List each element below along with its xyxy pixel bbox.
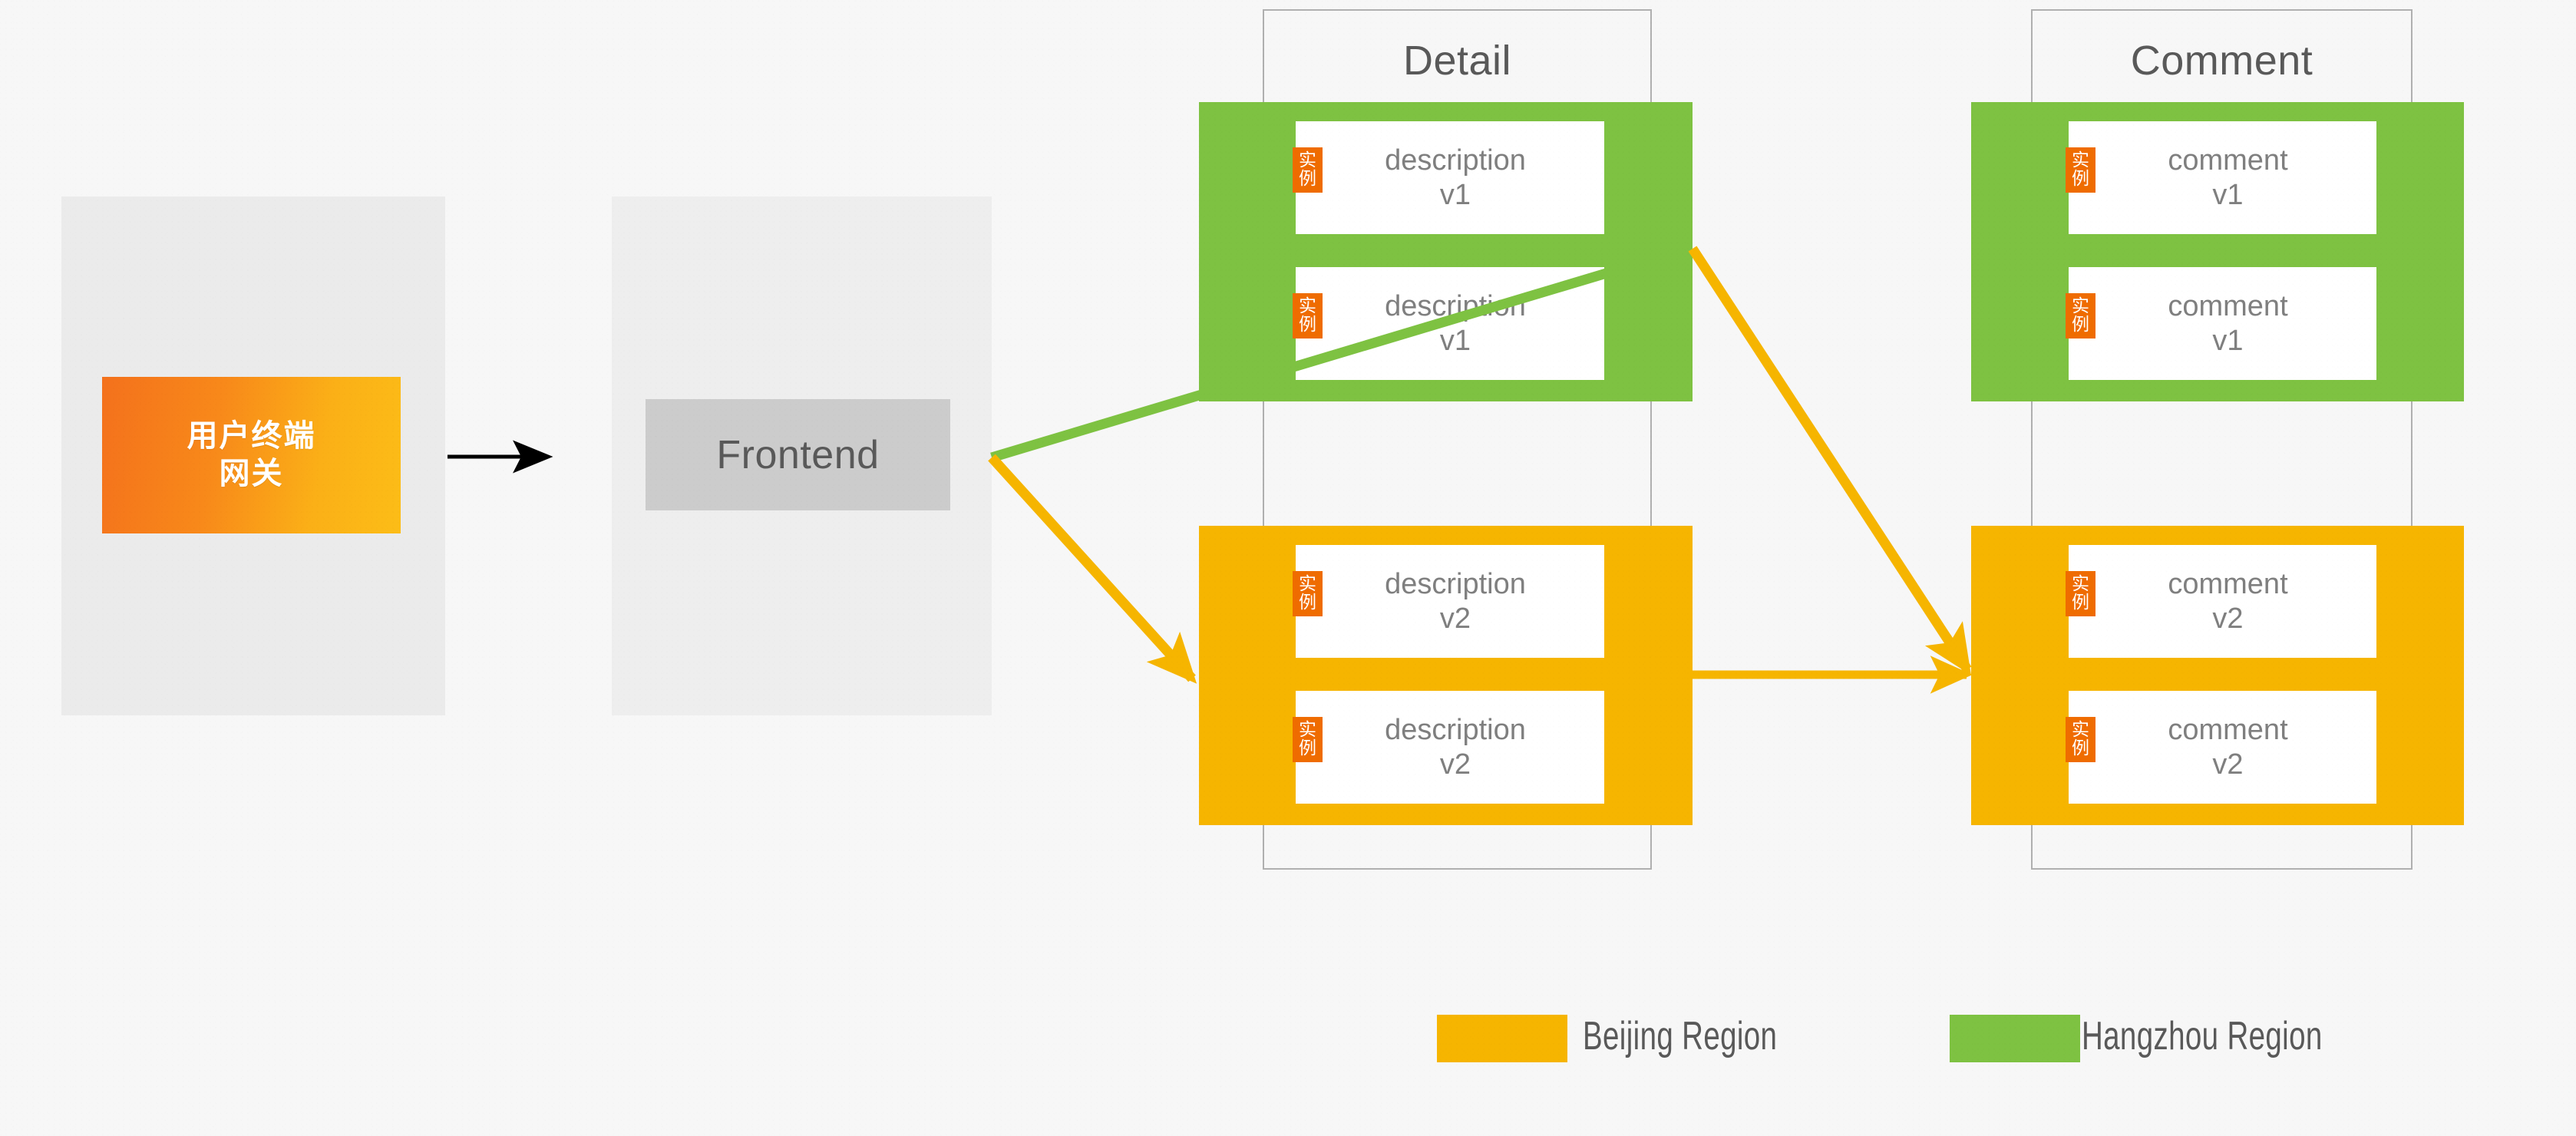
- user-gateway-label-line2: 网关: [220, 455, 284, 493]
- instance-badge-char-1: 实: [1299, 721, 1316, 739]
- detail-beijing-instance-2[interactable]: 实 例 description v2: [1296, 691, 1604, 804]
- comment-hangzhou-instance-1[interactable]: 实 例 comment v1: [2069, 121, 2376, 234]
- instance-name: description: [1385, 568, 1526, 600]
- frontend-box[interactable]: Frontend: [646, 399, 950, 510]
- instance-version: v2: [2086, 748, 2370, 782]
- instance-badge-icon: 实 例: [2066, 293, 2095, 338]
- instance-name: comment: [2168, 568, 2287, 600]
- detail-service-title: Detail: [1263, 37, 1652, 84]
- instance-name: description: [1385, 144, 1526, 177]
- instance-version: v1: [2086, 324, 2370, 358]
- instance-version: v1: [1313, 324, 1598, 358]
- instance-badge-char-1: 实: [2072, 575, 2089, 593]
- user-gateway-box[interactable]: 用户终端 网关: [102, 377, 401, 533]
- comment-beijing-instance-1[interactable]: 实 例 comment v2: [2069, 545, 2376, 658]
- comment-beijing-instance-2[interactable]: 实 例 comment v2: [2069, 691, 2376, 804]
- instance-badge-char-1: 实: [2072, 151, 2089, 170]
- detail-hangzhou-instance-1[interactable]: 实 例 description v1: [1296, 121, 1604, 234]
- instance-badge-icon: 实 例: [1293, 147, 1323, 193]
- instance-badge-char-1: 实: [1299, 297, 1316, 315]
- instance-badge-icon: 实 例: [2066, 147, 2095, 193]
- detail-beijing-instance-1[interactable]: 实 例 description v2: [1296, 545, 1604, 658]
- frontend-label: Frontend: [716, 432, 879, 478]
- instance-badge-char-1: 实: [2072, 297, 2089, 315]
- instance-badge-char-1: 实: [2072, 721, 2089, 739]
- instance-badge-icon: 实 例: [1293, 571, 1323, 616]
- instance-label: comment v2: [2069, 713, 2376, 782]
- instance-badge-char-2: 例: [2072, 315, 2089, 334]
- instance-label: description v1: [1296, 144, 1604, 213]
- edge-frontend-to-detail-v2: [992, 457, 1192, 679]
- instance-name: comment: [2168, 144, 2287, 177]
- comment-service-title: Comment: [2031, 37, 2413, 84]
- instance-label: comment v1: [2069, 144, 2376, 213]
- instance-label: comment v1: [2069, 289, 2376, 358]
- instance-badge-icon: 实 例: [2066, 717, 2095, 762]
- instance-badge-char-2: 例: [2072, 739, 2089, 758]
- instance-name: description: [1385, 290, 1526, 322]
- comment-hangzhou-instance-2[interactable]: 实 例 comment v1: [2069, 267, 2376, 380]
- legend-swatch-beijing: [1437, 1015, 1567, 1062]
- instance-badge-char-2: 例: [1299, 315, 1316, 334]
- edge-detail-v1-to-comment-v2: [1693, 249, 1967, 669]
- instance-name: comment: [2168, 714, 2287, 746]
- instance-name: description: [1385, 714, 1526, 746]
- instance-badge-char-2: 例: [1299, 739, 1316, 758]
- instance-version: v2: [1313, 602, 1598, 636]
- instance-label: description v1: [1296, 289, 1604, 358]
- user-gateway-label-line1: 用户终端: [187, 418, 316, 455]
- legend-label-hangzhou: Hangzhou Region: [2082, 1013, 2323, 1059]
- legend-label-beijing: Beijing Region: [1583, 1013, 1777, 1059]
- instance-badge-char-2: 例: [1299, 593, 1316, 612]
- instance-label: description v2: [1296, 713, 1604, 782]
- instance-badge-char-1: 实: [1299, 151, 1316, 170]
- instance-label: comment v2: [2069, 567, 2376, 636]
- diagram-canvas: 用户终端 网关 Frontend Detail 实 例 description …: [0, 0, 2576, 1136]
- instance-name: comment: [2168, 290, 2287, 322]
- instance-badge-char-2: 例: [2072, 593, 2089, 612]
- instance-version: v1: [1313, 178, 1598, 213]
- instance-badge-char-2: 例: [2072, 170, 2089, 188]
- instance-version: v2: [2086, 602, 2370, 636]
- instance-badge-icon: 实 例: [1293, 293, 1323, 338]
- instance-badge-icon: 实 例: [2066, 571, 2095, 616]
- instance-badge-char-1: 实: [1299, 575, 1316, 593]
- instance-version: v1: [2086, 178, 2370, 213]
- instance-version: v2: [1313, 748, 1598, 782]
- instance-badge-icon: 实 例: [1293, 717, 1323, 762]
- detail-hangzhou-instance-2[interactable]: 实 例 description v1: [1296, 267, 1604, 380]
- instance-label: description v2: [1296, 567, 1604, 636]
- legend-swatch-hangzhou: [1950, 1015, 2080, 1062]
- instance-badge-char-2: 例: [1299, 170, 1316, 188]
